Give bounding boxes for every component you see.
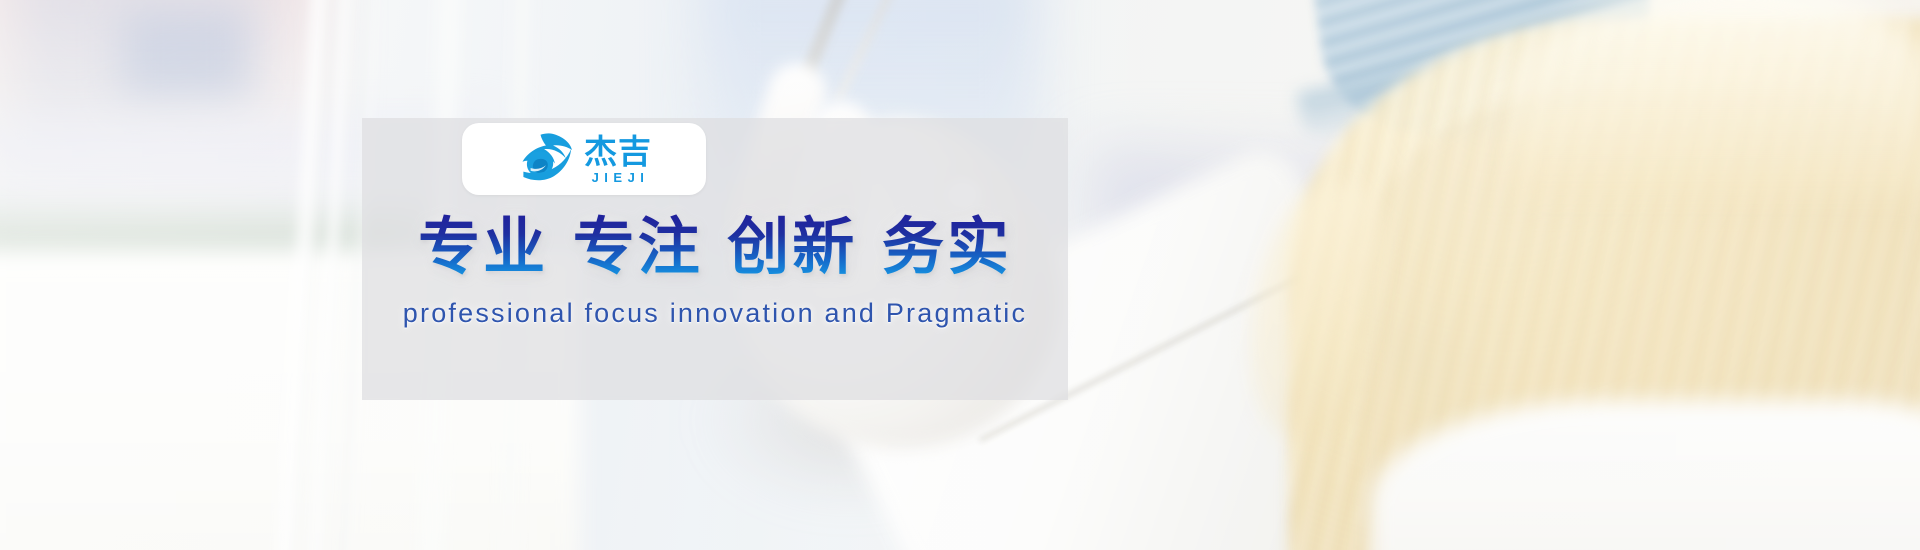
- logo-wordmark: 杰吉 JIEJI: [584, 135, 652, 184]
- company-logo-badge: 杰吉 JIEJI: [462, 123, 706, 195]
- logo-latin-name: JIEJI: [592, 171, 650, 184]
- hero-banner: 杰吉 JIEJI 专业 专注 创新 务实 professional focus …: [0, 0, 1920, 550]
- jieji-swirl-wave-icon: [516, 132, 574, 186]
- logo-chinese-name: 杰吉: [584, 135, 652, 168]
- slogan-headline: 专业 专注 创新 务实: [362, 214, 1068, 281]
- slogan-overlay-panel: 杰吉 JIEJI 专业 专注 创新 务实 professional focus …: [362, 118, 1068, 400]
- slogan-subtitle: professional focus innovation and Pragma…: [362, 298, 1068, 329]
